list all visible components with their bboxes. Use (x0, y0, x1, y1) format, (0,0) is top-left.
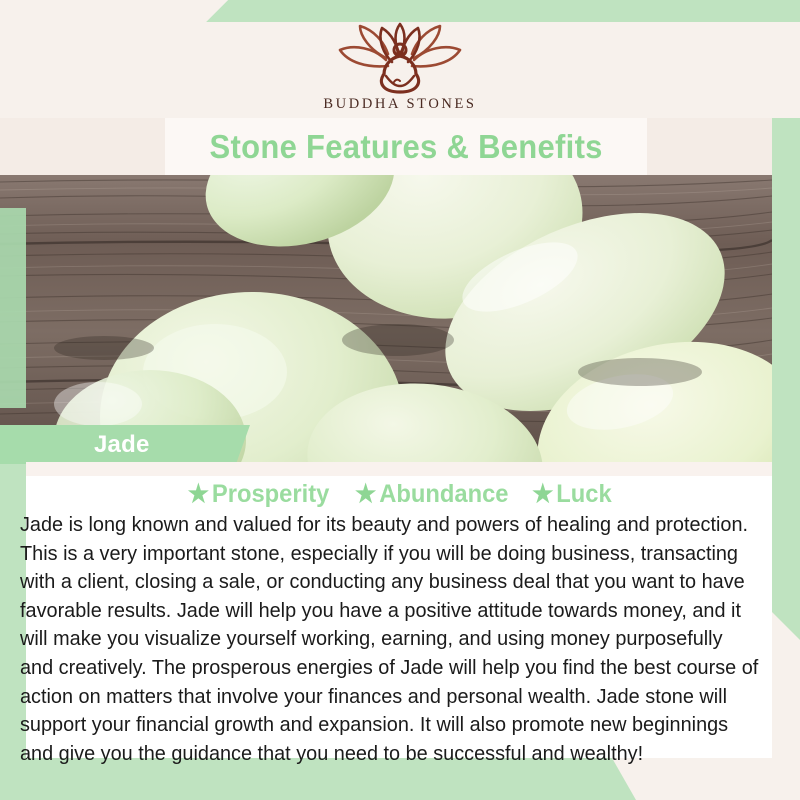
brand-logo: BUDDHA STONES (0, 22, 800, 113)
benefit-label: Luck (557, 480, 612, 508)
title-right-filler (646, 118, 772, 175)
stone-photo (0, 172, 772, 462)
benefits-row: ★Prosperity★Abundance★Luck (26, 479, 772, 509)
page-title-panel: Stone Features & Benefits (165, 118, 647, 175)
stone-label: Jade (94, 431, 150, 459)
brand-name: BUDDHA STONES (0, 96, 800, 113)
page-title: Stone Features & Benefits (209, 128, 602, 166)
benefit-prosperity: ★Prosperity (188, 479, 330, 509)
star-icon: ★ (533, 480, 554, 508)
benefit-label: Abundance (379, 480, 508, 508)
star-icon: ★ (355, 480, 376, 508)
benefit-abundance: ★Abundance (355, 479, 508, 509)
stone-label-banner: Jade (0, 425, 250, 464)
benefit-label: Prosperity (212, 480, 329, 508)
lotus-meditation-icon (326, 22, 474, 94)
description-card-top-strip (26, 462, 772, 476)
star-icon: ★ (188, 480, 209, 508)
title-left-filler (0, 118, 166, 175)
benefit-luck: ★Luck (533, 479, 613, 509)
stone-description: Jade is long known and valued for its be… (20, 511, 759, 768)
green-photo-accent (0, 208, 26, 408)
infographic-poster: BUDDHA STONES Stone Features & Benefits … (0, 0, 800, 800)
